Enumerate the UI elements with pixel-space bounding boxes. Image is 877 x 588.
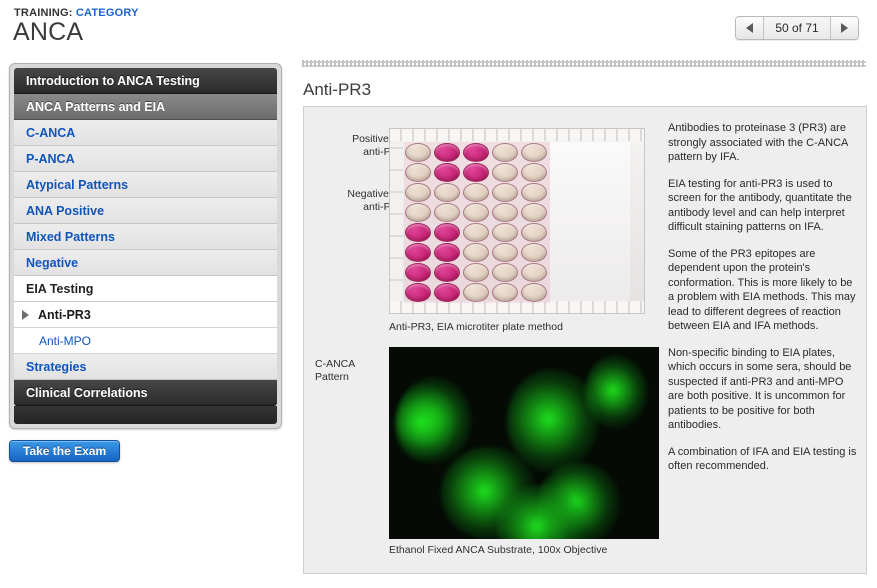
plate-well-negative: [405, 163, 431, 182]
plate-well-positive: [405, 283, 431, 302]
plate-well-negative: [434, 183, 460, 202]
plate-well-negative: [434, 203, 460, 222]
sidebar-item-label: C-ANCA: [26, 126, 75, 140]
sidebar-item-strategies[interactable]: Strategies: [14, 354, 277, 380]
fluorescent-cell: [395, 385, 453, 463]
pagination-control: 50 of 71: [735, 16, 859, 40]
description-paragraph: Some of the PR3 epitopes are dependent u…: [668, 247, 858, 334]
plate-well-negative: [521, 143, 547, 162]
sidebar-item-label: Anti-PR3: [38, 308, 91, 322]
description-paragraph: Antibodies to proteinase 3 (PR3) are str…: [668, 121, 858, 165]
plate-well-positive: [434, 263, 460, 282]
sidebar-item-c-anca[interactable]: C-ANCA: [14, 120, 277, 146]
content-title: Anti-PR3: [303, 80, 371, 100]
plate-well-negative: [463, 183, 489, 202]
plate-well-negative: [405, 203, 431, 222]
page-title: ANCA: [13, 18, 83, 47]
sidebar-item-clinical-correlations[interactable]: Clinical Correlations: [14, 380, 277, 406]
sidebar-item-label: Clinical Correlations: [26, 386, 148, 400]
plate-well-negative: [492, 263, 518, 282]
plate-well-negative: [492, 143, 518, 162]
plate-well-positive: [434, 163, 460, 182]
plate-well-positive: [405, 243, 431, 262]
plate-well-positive: [405, 223, 431, 242]
triangle-right-icon: [841, 23, 848, 33]
sidebar-item-label: EIA Testing: [26, 282, 93, 296]
plate-well-negative: [463, 223, 489, 242]
description-text-column: Antibodies to proteinase 3 (PR3) are str…: [668, 121, 858, 486]
sidebar-item-eia-testing[interactable]: EIA Testing: [14, 276, 277, 302]
sidebar-item-anti-mpo[interactable]: Anti-MPO: [14, 328, 277, 354]
plate-well-positive: [434, 223, 460, 242]
sidebar-item-negative[interactable]: Negative: [14, 250, 277, 276]
sidebar-item-label: ANCA Patterns and EIA: [26, 100, 165, 114]
plate-well-negative: [492, 283, 518, 302]
plate-well-negative: [463, 243, 489, 262]
current-item-triangle-icon: [22, 310, 29, 320]
sidebar-item-mixed-patterns[interactable]: Mixed Patterns: [14, 224, 277, 250]
plate-well-positive: [434, 283, 460, 302]
sidebar-item-label: Mixed Patterns: [26, 230, 115, 244]
plate-well-negative: [492, 243, 518, 262]
sidebar-item-label: Introduction to ANCA Testing: [26, 74, 200, 88]
breadcrumb-category-link[interactable]: CATEGORY: [76, 7, 139, 19]
plate-well-negative: [521, 263, 547, 282]
plate-well-negative: [521, 203, 547, 222]
plate-rim-left: [390, 141, 403, 301]
plate-well-negative: [521, 223, 547, 242]
plate-well-negative: [521, 183, 547, 202]
sidebar-item-atypical-patterns[interactable]: Atypical Patterns: [14, 172, 277, 198]
plate-well-positive: [463, 143, 489, 162]
sidebar-item-introduction-to-anca-testing[interactable]: Introduction to ANCA Testing: [14, 68, 277, 94]
plate-well-negative: [521, 243, 547, 262]
next-page-button[interactable]: [830, 17, 858, 39]
plate-well-grid: [404, 142, 550, 303]
description-paragraph: Non-specific binding to EIA plates, whic…: [668, 346, 858, 433]
ifa-side-label-line2: Pattern: [315, 371, 385, 384]
plate-well-negative: [463, 263, 489, 282]
plate-well-positive: [463, 163, 489, 182]
page-indicator: 50 of 71: [764, 17, 830, 39]
ifa-side-label: C-ANCA Pattern: [315, 358, 385, 384]
plate-well-negative: [521, 163, 547, 182]
take-the-exam-button[interactable]: Take the Exam: [9, 440, 120, 462]
sidebar-item-label: Negative: [26, 256, 78, 270]
description-paragraph: EIA testing for anti-PR3 is used to scre…: [668, 177, 858, 235]
plate-well-positive: [405, 263, 431, 282]
plate-well-negative: [521, 283, 547, 302]
sidebar-menu: Introduction to ANCA TestingANCA Pattern…: [14, 68, 277, 406]
sidebar-item-label: ANA Positive: [26, 204, 104, 218]
sidebar-item-ana-positive[interactable]: ANA Positive: [14, 198, 277, 224]
plate-caption: Anti-PR3, EIA microtiter plate method: [389, 321, 563, 333]
plate-well-negative: [492, 223, 518, 242]
fluorescent-cell: [585, 355, 647, 429]
sidebar-footer-bar: [14, 406, 277, 424]
sidebar-navigation: Introduction to ANCA TestingANCA Pattern…: [9, 63, 282, 429]
microtiter-plate-image: [389, 128, 645, 314]
previous-page-button[interactable]: [736, 17, 764, 39]
plate-well-negative: [463, 203, 489, 222]
sidebar-item-label: Atypical Patterns: [26, 178, 128, 192]
ifa-caption: Ethanol Fixed ANCA Substrate, 100x Objec…: [389, 544, 607, 556]
plate-well-negative: [405, 143, 431, 162]
plate-empty-region: [550, 142, 630, 302]
plate-well-negative: [492, 163, 518, 182]
sidebar-item-label: P-ANCA: [26, 152, 75, 166]
plate-well-positive: [434, 243, 460, 262]
plate-rim-top: [390, 129, 644, 141]
ifa-fluorescence-image: [389, 347, 659, 539]
description-paragraph: A combination of IFA and EIA testing is …: [668, 445, 858, 474]
sidebar-item-p-anca[interactable]: P-ANCA: [14, 146, 277, 172]
content-panel: Positive for anti-PR3 Negative for anti-…: [303, 106, 867, 574]
page-header: TRAINING: CATEGORY ANCA 50 of 71: [0, 0, 877, 52]
ifa-side-label-line1: C-ANCA: [315, 358, 385, 371]
sidebar-item-anti-pr3[interactable]: Anti-PR3: [14, 302, 277, 328]
plate-well-negative: [492, 203, 518, 222]
plate-well-negative: [405, 183, 431, 202]
sidebar-item-label: Anti-MPO: [39, 334, 91, 348]
sidebar-item-label: Strategies: [26, 360, 86, 374]
decorative-hatch-bar: [302, 60, 866, 67]
plate-well-positive: [434, 143, 460, 162]
triangle-left-icon: [746, 23, 753, 33]
plate-well-negative: [463, 283, 489, 302]
sidebar-item-anca-patterns-and-eia[interactable]: ANCA Patterns and EIA: [14, 94, 277, 120]
plate-well-negative: [492, 183, 518, 202]
